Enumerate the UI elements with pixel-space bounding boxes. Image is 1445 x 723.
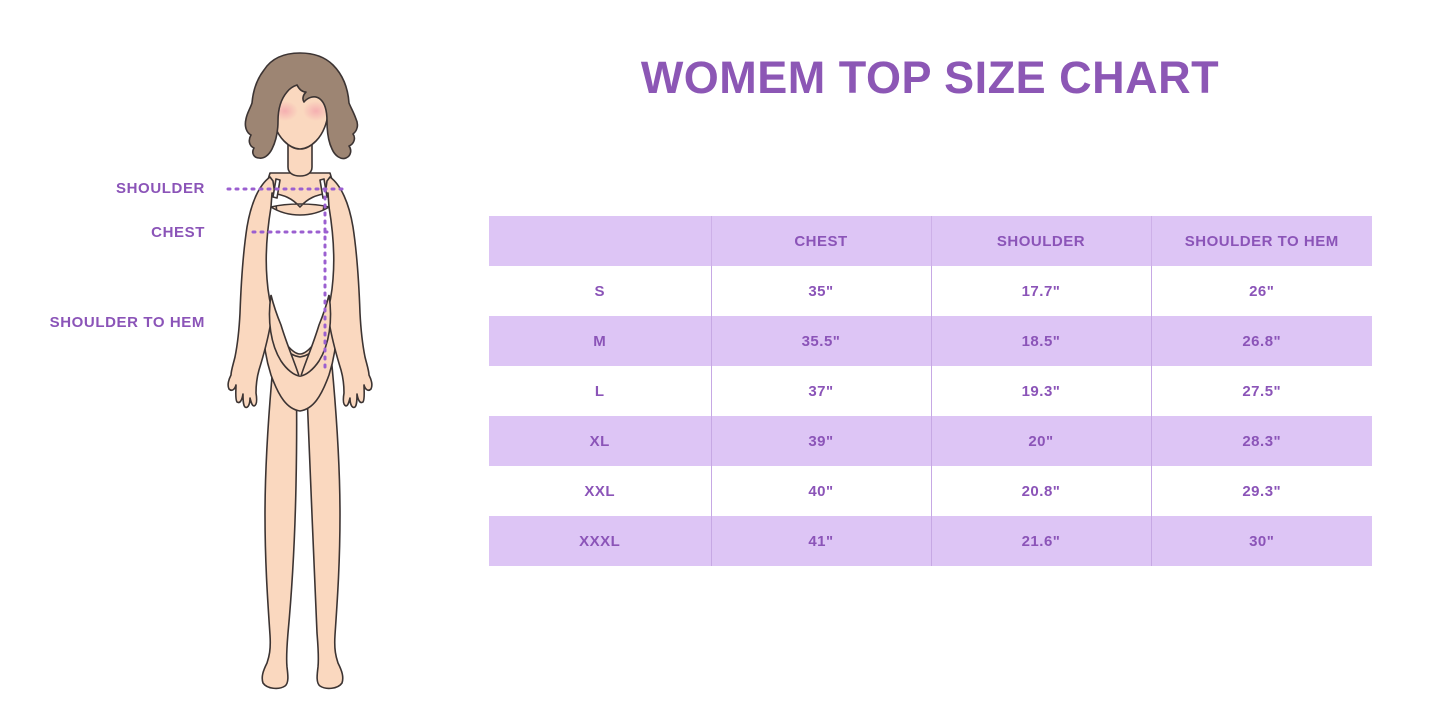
cell-size: L (489, 366, 711, 416)
cell-size: XXL (489, 466, 711, 516)
cell-shoulder-to-hem: 26.8" (1151, 316, 1372, 366)
header-shoulder: SHOULDER (931, 216, 1151, 266)
cell-chest: 41" (711, 516, 931, 566)
table-row: L 37" 19.3" 27.5" (489, 366, 1372, 416)
header-shoulder-to-hem: SHOULDER TO HEM (1151, 216, 1372, 266)
header-size (489, 216, 711, 266)
table-row: XL 39" 20" 28.3" (489, 416, 1372, 466)
size-chart-page: WOMEM TOP SIZE CHART SHOULDER CHEST SHOU… (0, 0, 1445, 723)
cell-chest: 39" (711, 416, 931, 466)
cell-shoulder: 18.5" (931, 316, 1151, 366)
table-row: XXXL 41" 21.6" 30" (489, 516, 1372, 566)
cell-shoulder-to-hem: 29.3" (1151, 466, 1372, 516)
cell-shoulder: 20" (931, 416, 1151, 466)
cell-shoulder-to-hem: 28.3" (1151, 416, 1372, 466)
table-row: S 35" 17.7" 26" (489, 266, 1372, 316)
cell-shoulder: 19.3" (931, 366, 1151, 416)
cell-size: S (489, 266, 711, 316)
cell-chest: 35.5" (711, 316, 931, 366)
cell-size: M (489, 316, 711, 366)
cell-chest: 40" (711, 466, 931, 516)
cell-size: XL (489, 416, 711, 466)
page-title: WOMEM TOP SIZE CHART (480, 52, 1380, 104)
cell-shoulder: 17.7" (931, 266, 1151, 316)
cell-shoulder-to-hem: 27.5" (1151, 366, 1372, 416)
cell-chest: 37" (711, 366, 931, 416)
header-chest: CHEST (711, 216, 931, 266)
body-figure-illustration (175, 45, 425, 695)
table-header-row: CHEST SHOULDER SHOULDER TO HEM (489, 216, 1372, 266)
table-row: XXL 40" 20.8" 29.3" (489, 466, 1372, 516)
table-row: M 35.5" 18.5" 26.8" (489, 316, 1372, 366)
size-chart-table: CHEST SHOULDER SHOULDER TO HEM S 35" 17.… (489, 216, 1372, 566)
cell-chest: 35" (711, 266, 931, 316)
cell-shoulder-to-hem: 30" (1151, 516, 1372, 566)
cell-shoulder: 21.6" (931, 516, 1151, 566)
cell-size: XXXL (489, 516, 711, 566)
cell-shoulder: 20.8" (931, 466, 1151, 516)
cell-shoulder-to-hem: 26" (1151, 266, 1372, 316)
